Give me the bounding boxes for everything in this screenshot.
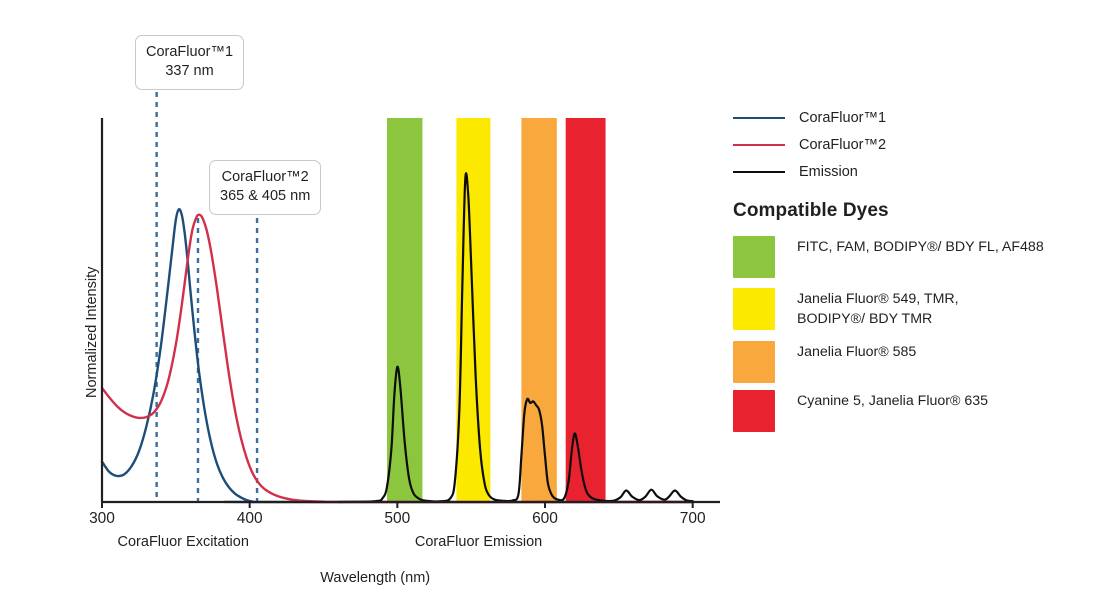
legend-line-swatch (733, 144, 785, 146)
x-axis-label: Wavelength (nm) (320, 570, 430, 586)
marker-label-line2: 365 & 405 nm (220, 187, 310, 206)
legend-label: CoraFluor™1 (799, 110, 886, 126)
dye-color-swatch (733, 341, 775, 383)
axis-region-label: CoraFluor Emission (415, 534, 542, 550)
marker-label-line2: 337 nm (146, 62, 233, 81)
dye-label: Janelia Fluor® 585 (797, 341, 916, 362)
dye-label: FITC, FAM, BODIPY®/ BDY FL, AF488 (797, 236, 1044, 257)
side-panel: CoraFluor™1CoraFluor™2Emission Compatibl… (728, 0, 1110, 612)
dyes-panel-title: Compatible Dyes (733, 200, 889, 222)
dye-color-swatch (733, 288, 775, 330)
legend-item: Emission (733, 164, 858, 180)
dye-row: Janelia Fluor® 585 (733, 341, 916, 383)
y-axis-label: Normalized Intensity (84, 267, 100, 398)
legend-line-swatch (733, 117, 785, 119)
x-tick-label-400: 400 (237, 510, 263, 528)
excitation-marker-corafluor2: CoraFluor™2 365 & 405 nm (209, 160, 321, 215)
legend-item: CoraFluor™2 (733, 137, 886, 153)
x-tick-label-700: 700 (680, 510, 706, 528)
chart-figure: CoraFluor™1 337 nm CoraFluor™2 365 & 405… (0, 0, 1110, 612)
x-tick-label-500: 500 (384, 510, 410, 528)
legend-line-swatch (733, 171, 785, 173)
dye-row: Cyanine 5, Janelia Fluor® 635 (733, 390, 988, 432)
dye-label: Janelia Fluor® 549, TMR, BODIPY®/ BDY TM… (797, 288, 959, 329)
legend-item: CoraFluor™1 (733, 110, 886, 126)
dye-color-swatch (733, 390, 775, 432)
dye-row: FITC, FAM, BODIPY®/ BDY FL, AF488 (733, 236, 1044, 278)
marker-label-line1: CoraFluor™2 (220, 168, 310, 187)
x-tick-label-300: 300 (89, 510, 115, 528)
dye-color-swatch (733, 236, 775, 278)
legend-label: Emission (799, 164, 858, 180)
marker-label-line1: CoraFluor™1 (146, 43, 233, 62)
orange-band (521, 118, 556, 502)
dye-label: Cyanine 5, Janelia Fluor® 635 (797, 390, 988, 411)
legend-label: CoraFluor™2 (799, 137, 886, 153)
axis-region-label: CoraFluor Excitation (118, 534, 249, 550)
x-tick-label-600: 600 (532, 510, 558, 528)
excitation-marker-corafluor1: CoraFluor™1 337 nm (135, 35, 244, 90)
dye-row: Janelia Fluor® 549, TMR, BODIPY®/ BDY TM… (733, 288, 959, 330)
